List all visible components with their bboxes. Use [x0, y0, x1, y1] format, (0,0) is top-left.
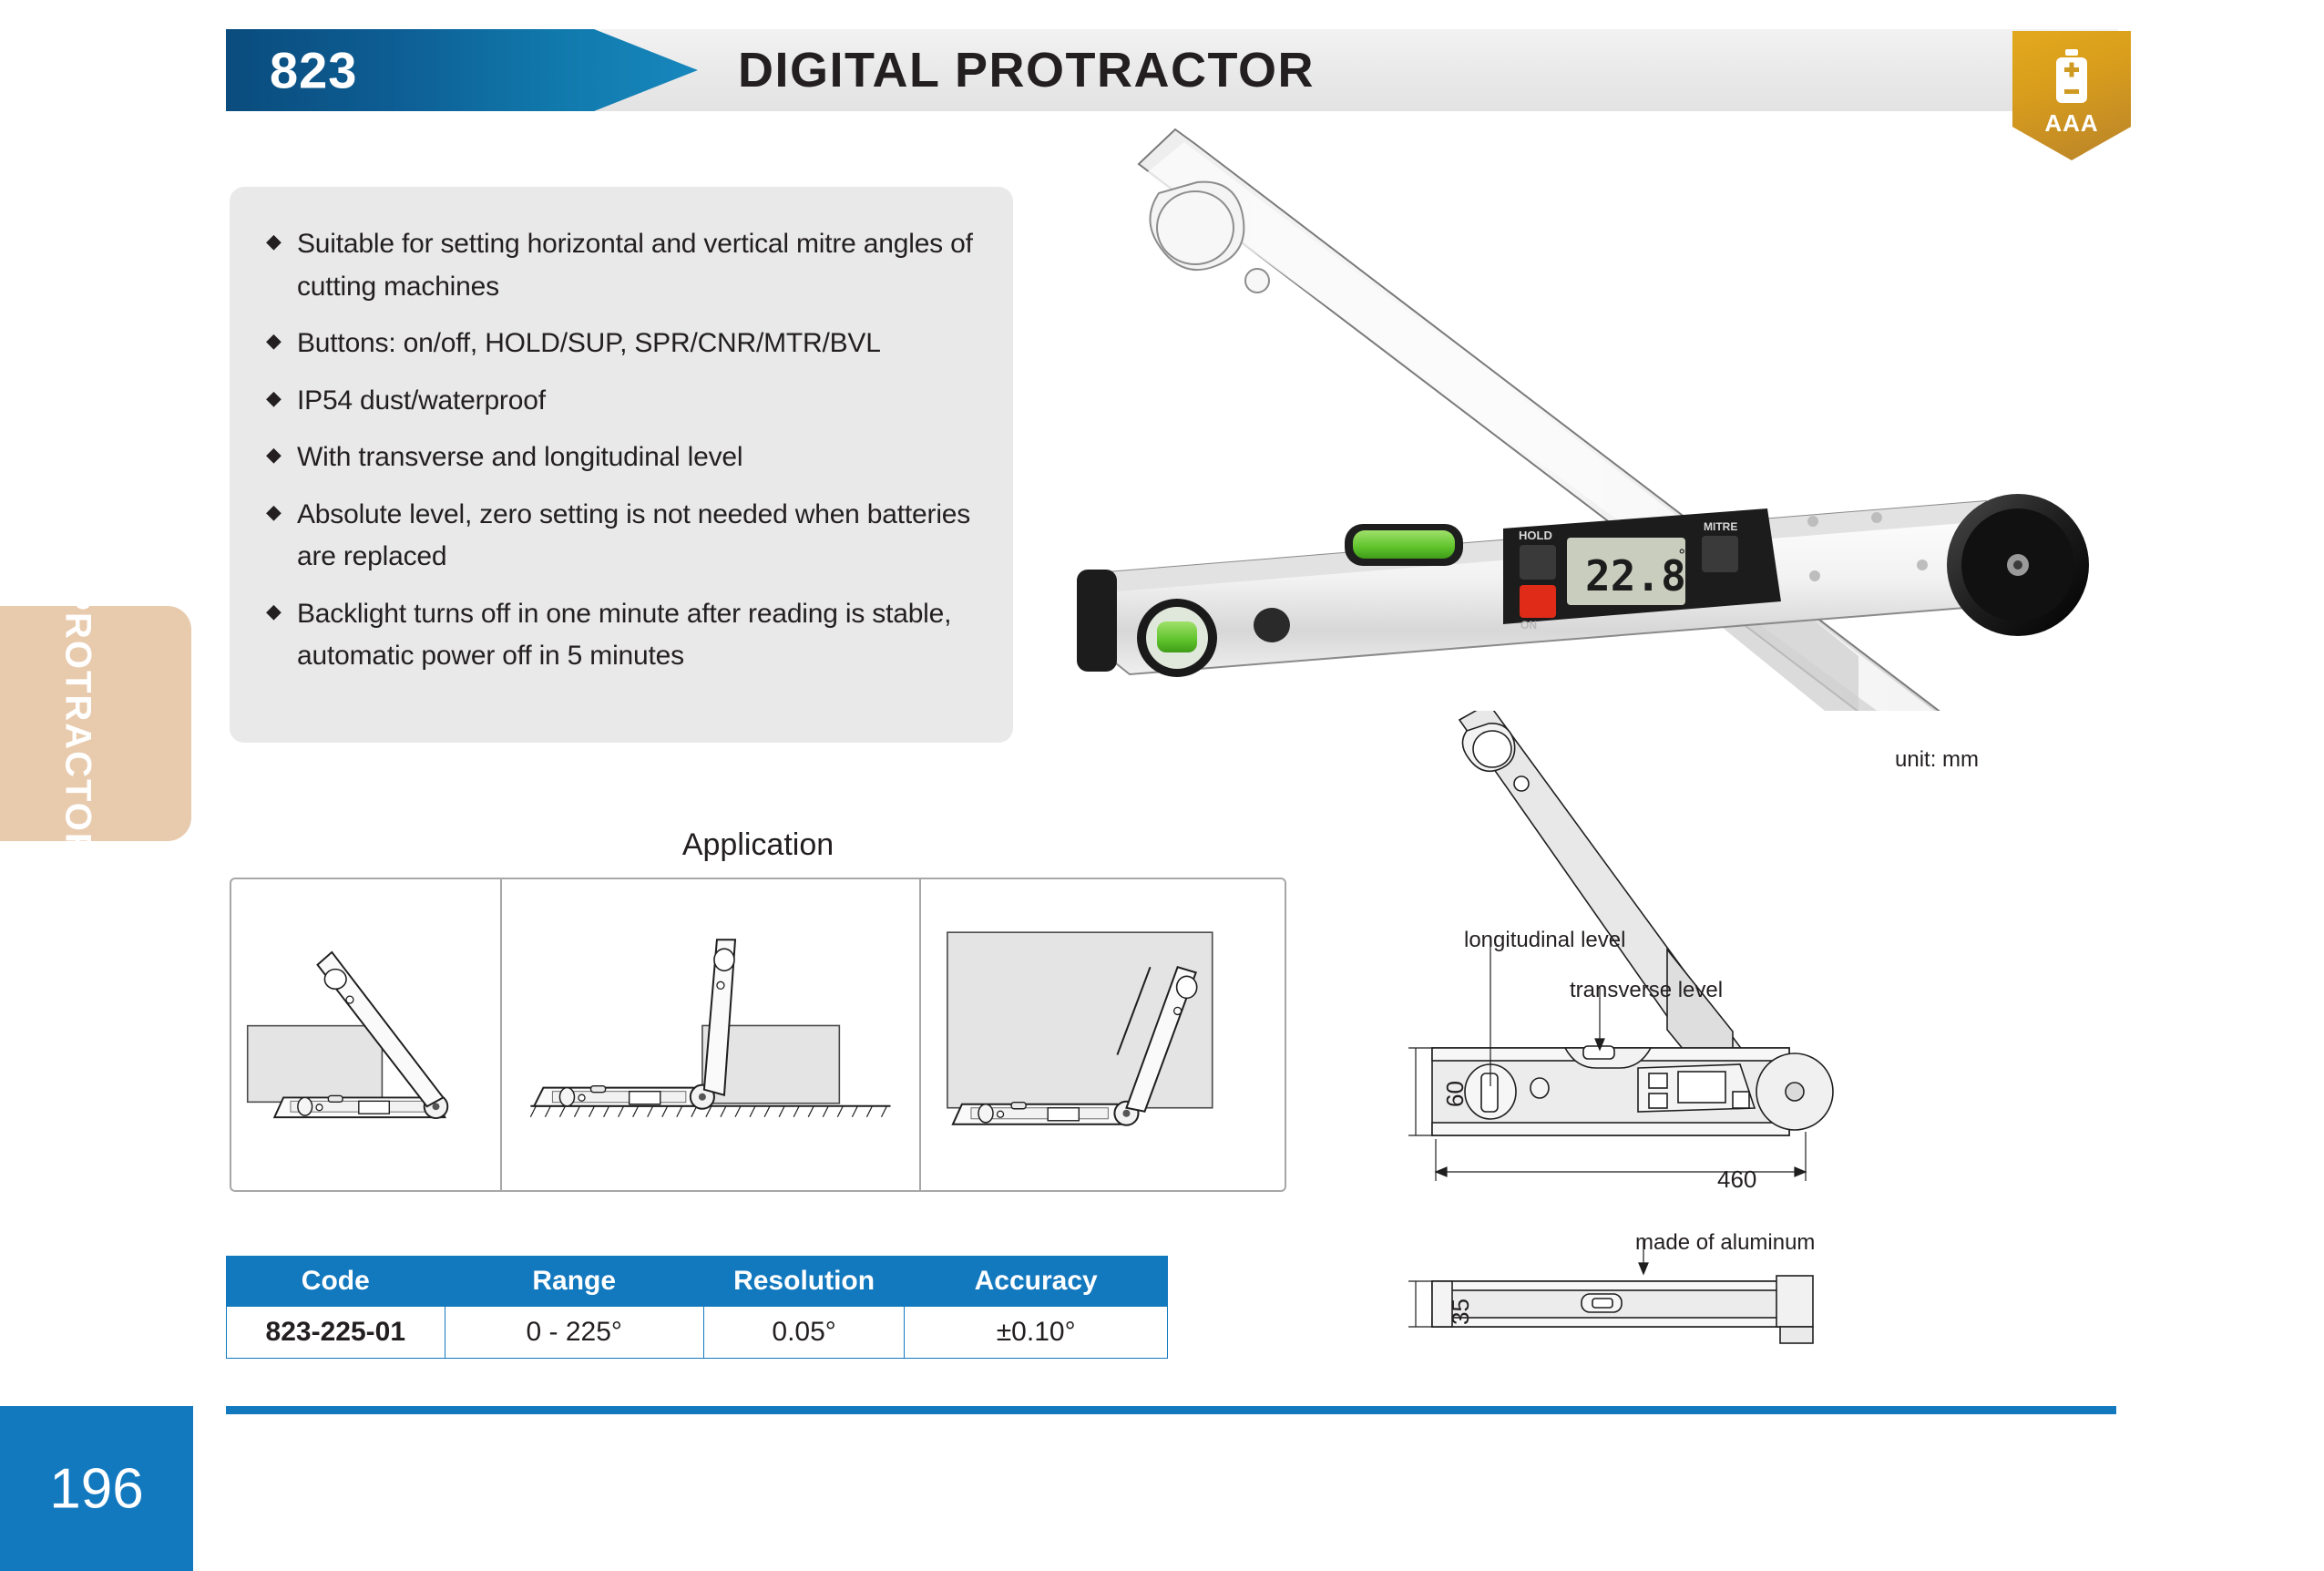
page-number-block: 196 [0, 1406, 193, 1571]
diamond-bullet-icon: ◆ [266, 593, 297, 627]
diamond-bullet-icon: ◆ [266, 494, 297, 528]
callout-transverse-level: transverse level [1570, 978, 1723, 1003]
application-diagram-1 [231, 879, 500, 1190]
application-diagram-3 [921, 879, 1285, 1190]
diamond-bullet-icon: ◆ [266, 323, 297, 356]
dimension-height-label: 60 [1441, 1081, 1469, 1107]
column-header-code: Code [227, 1257, 445, 1307]
callout-longitudinal-level: longitudinal level [1464, 928, 1625, 953]
dimension-lines-flat [1408, 1281, 1434, 1327]
feature-text: Absolute level, zero setting is not need… [297, 494, 986, 579]
application-title: Application [230, 827, 1286, 863]
unit-note-label: unit: mm [1895, 747, 1979, 773]
product-code: 823 [270, 41, 357, 100]
dimension-thickness-label: 35 [1447, 1299, 1475, 1325]
product-hinge-knob [1947, 494, 2089, 636]
feature-item: ◆ Buttons: on/off, HOLD/SUP, SPR/CNR/MTR… [266, 323, 986, 365]
feature-text: Buttons: on/off, HOLD/SUP, SPR/CNR/MTR/B… [297, 323, 881, 365]
column-header-range: Range [445, 1257, 703, 1307]
application-panels [230, 878, 1286, 1192]
callout-made-of-aluminum: made of aluminum [1635, 1230, 1815, 1256]
drawing-side-view [1432, 1046, 1833, 1135]
feature-item: ◆ With transverse and longitudinal level [266, 436, 986, 479]
cell-range: 0 - 225° [445, 1307, 703, 1359]
feature-item: ◆ Suitable for setting horizontal and ve… [266, 223, 986, 308]
spec-table: Code Range Resolution Accuracy 823-225-0… [226, 1256, 1168, 1359]
application-panel [231, 879, 502, 1190]
product-photo: 22.8 ° HOLD ON MITRE [1075, 109, 2132, 711]
feature-item: ◆ IP54 dust/waterproof [266, 380, 986, 423]
category-side-tab: PROTRACTOR [0, 606, 191, 841]
feature-item: ◆ Backlight turns off in one minute afte… [266, 593, 986, 678]
svg-text:ON: ON [1520, 619, 1537, 631]
table-header-row: Code Range Resolution Accuracy [227, 1257, 1168, 1307]
column-header-accuracy: Accuracy [905, 1257, 1168, 1307]
application-panel [921, 879, 1285, 1190]
application-panel [502, 879, 921, 1190]
lcd-value: 22.8 [1585, 551, 1686, 601]
features-panel: ◆ Suitable for setting horizontal and ve… [230, 187, 1013, 743]
lcd-unit: ° [1678, 547, 1686, 565]
feature-item: ◆ Absolute level, zero setting is not ne… [266, 494, 986, 579]
battery-icon [2051, 49, 2093, 106]
feature-text: IP54 dust/waterproof [297, 380, 546, 423]
drawing-flat-view [1432, 1276, 1813, 1343]
application-diagram-2 [502, 879, 919, 1190]
category-side-tab-label: PROTRACTOR [57, 586, 98, 860]
table-row: 823-225-01 0 - 225° 0.05° ±0.10° [227, 1307, 1168, 1359]
page-title: DIGITAL PROTRACTOR [738, 29, 1315, 111]
column-header-resolution: Resolution [703, 1257, 904, 1307]
footer-rule [226, 1406, 2116, 1414]
diamond-bullet-icon: ◆ [266, 223, 297, 257]
diamond-bullet-icon: ◆ [266, 436, 297, 470]
feature-text: Backlight turns off in one minute after … [297, 593, 986, 678]
cell-code: 823-225-01 [227, 1307, 445, 1359]
svg-text:HOLD: HOLD [1519, 529, 1552, 542]
feature-text: With transverse and longitudinal level [297, 436, 742, 479]
product-lower-body: 22.8 ° HOLD ON MITRE [1077, 501, 2045, 677]
page-number: 196 [0, 1456, 193, 1521]
dimension-length-label: 460 [1717, 1165, 1756, 1194]
cell-resolution: 0.05° [703, 1307, 904, 1359]
diamond-bullet-icon: ◆ [266, 380, 297, 414]
svg-text:MITRE: MITRE [1704, 520, 1737, 533]
cell-accuracy: ±0.10° [905, 1307, 1168, 1359]
feature-text: Suitable for setting horizontal and vert… [297, 223, 986, 308]
